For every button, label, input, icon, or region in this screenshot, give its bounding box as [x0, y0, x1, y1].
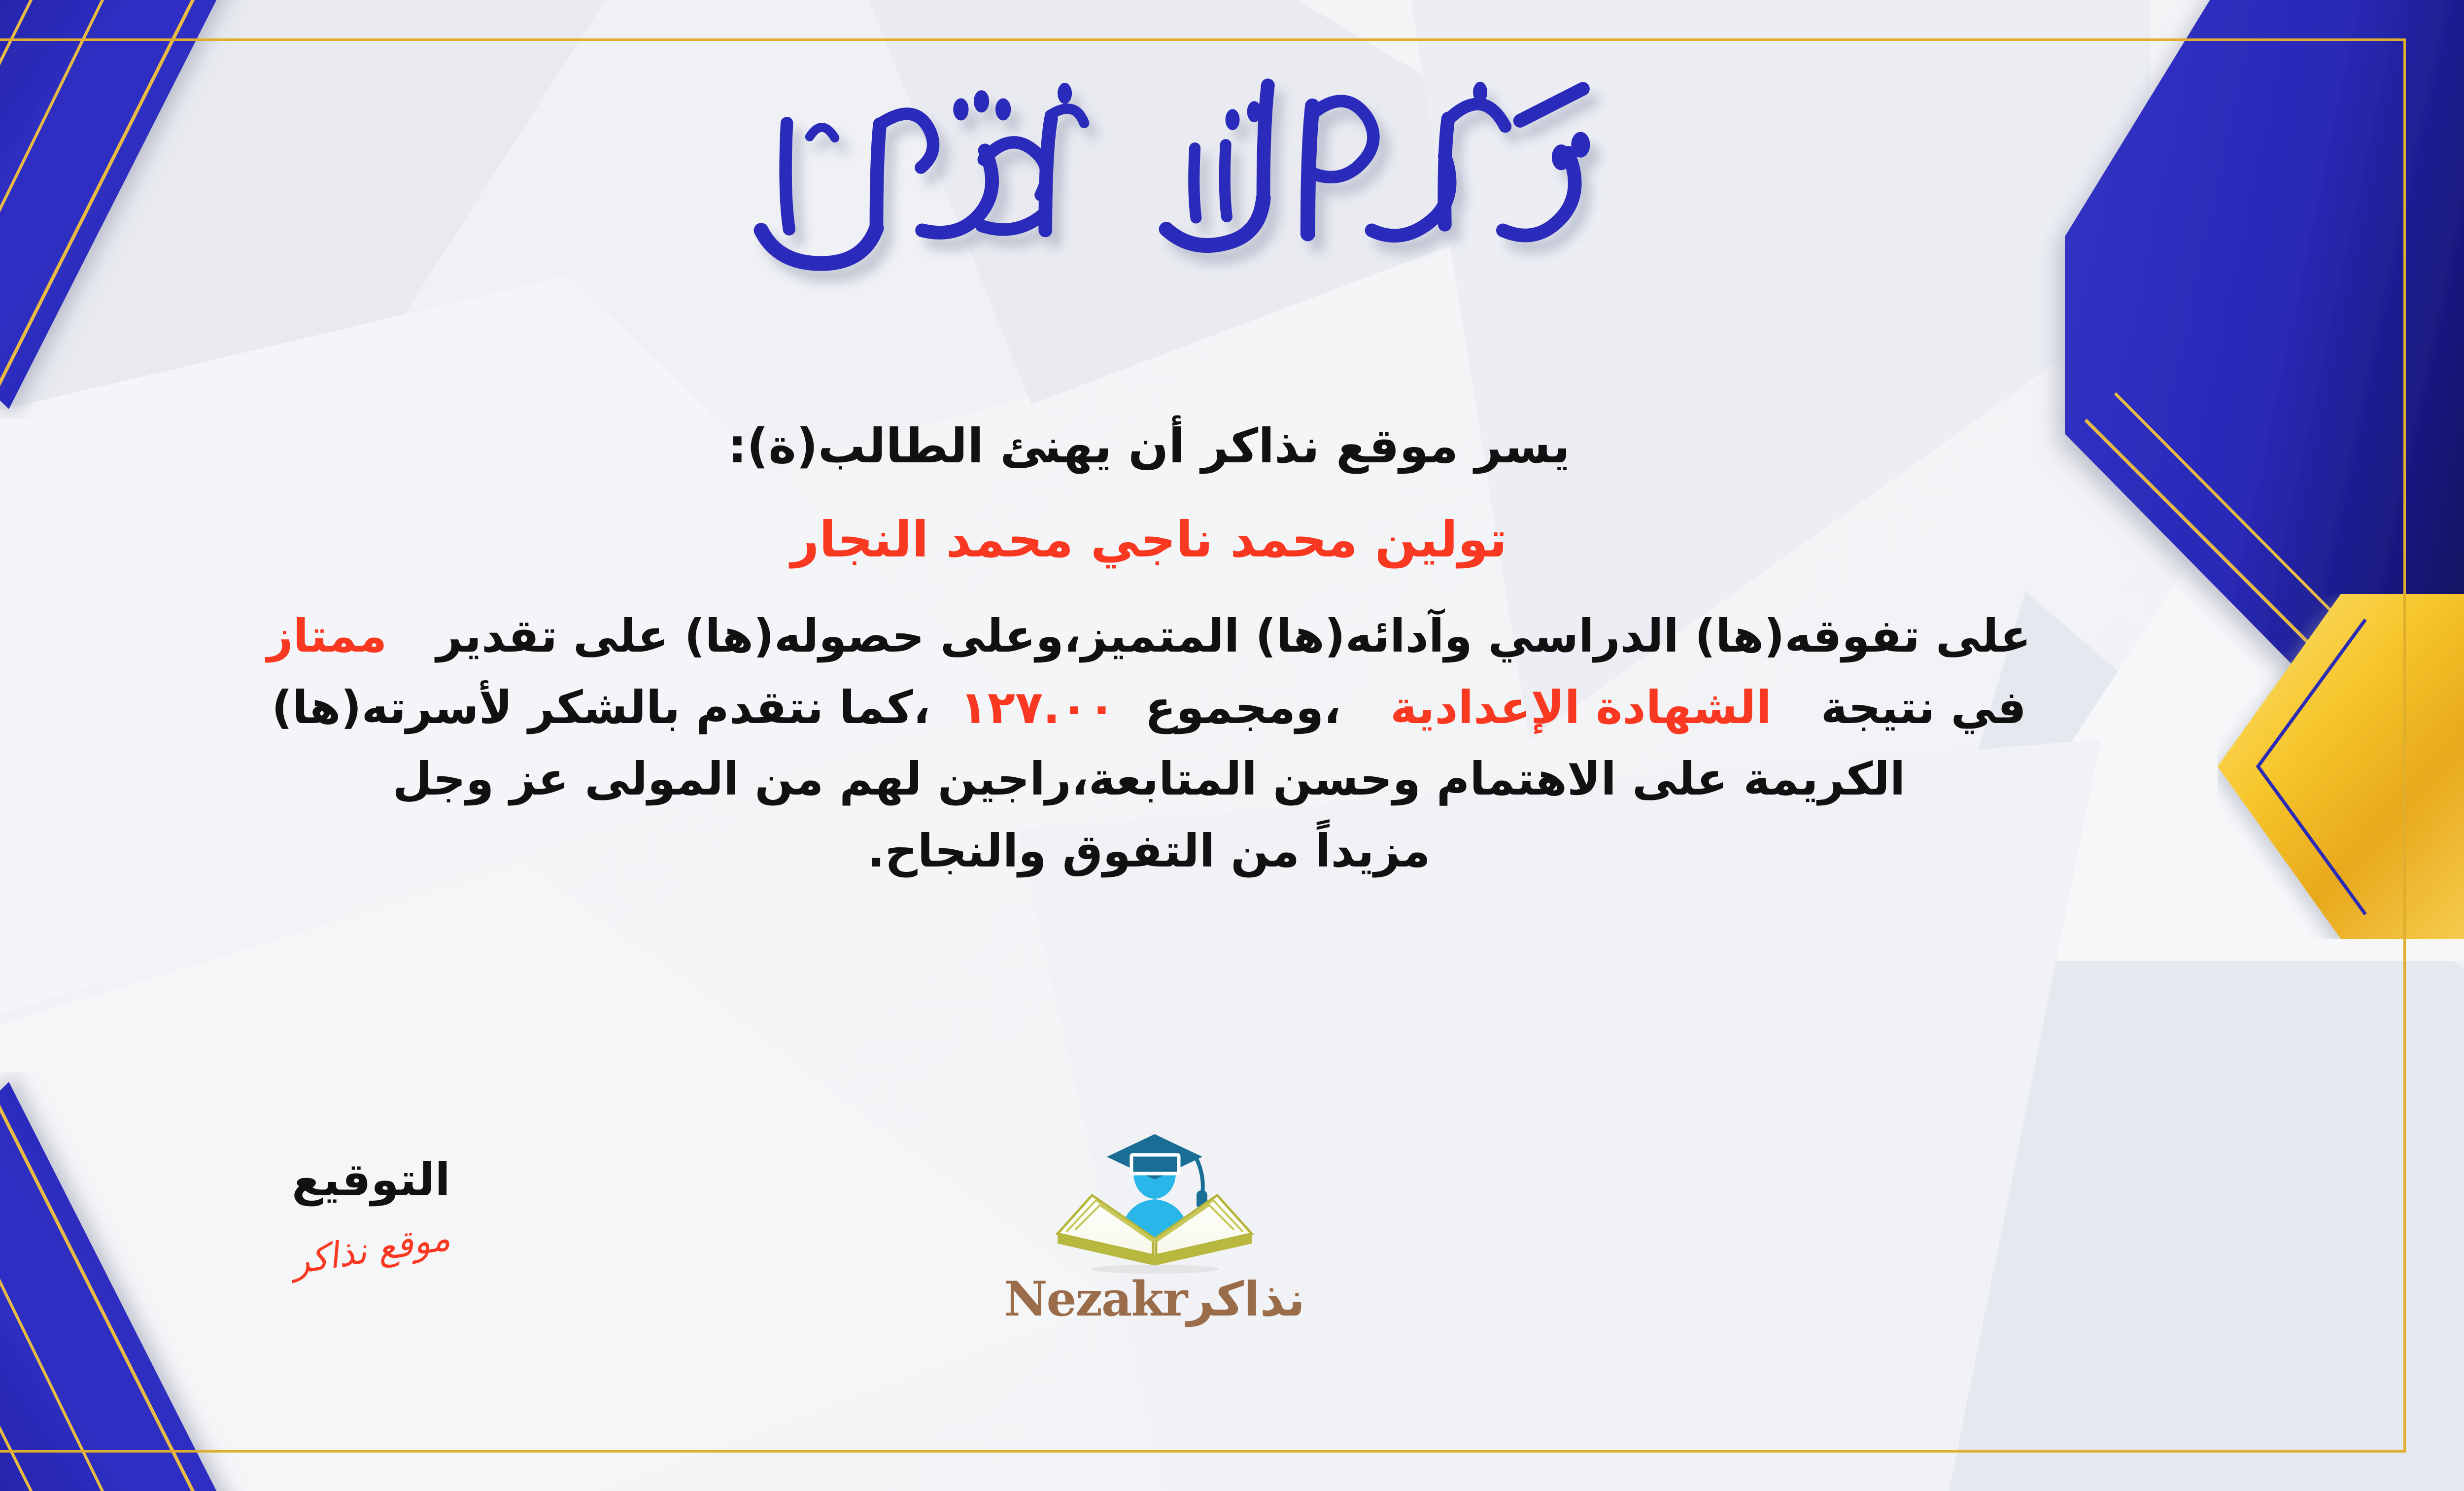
- certificate-title: [0, 59, 2464, 278]
- intro-line: يسر موقع نذاكر أن يهنئ الطالب(ة):: [0, 409, 2390, 484]
- bottom-left-blue-chevron-decoration: [0, 1072, 401, 1491]
- student-name: تولين محمد ناجي محمد النجار: [0, 501, 2390, 579]
- total-score-value: ١٢٧.٠٠: [960, 672, 1116, 743]
- achievement-line: على تفوقه(ها) الدراسي وآدائه(ها) المتميز…: [0, 600, 2390, 672]
- certificate-page: يسر موقع نذاكر أن يهنئ الطالب(ة): تولين …: [0, 0, 2464, 1491]
- stage-and-score-line: في نتيجة الشهادة الإعدادية ،ومجموع ١٢٧.٠…: [0, 672, 2390, 743]
- total-prefix-text: ،ومجموع: [1145, 672, 1341, 743]
- brand-logo: نذاكرNezakr: [982, 1126, 1327, 1327]
- certificate-stage-value: الشهادة الإعدادية: [1390, 672, 1772, 743]
- signature-block: التوقيع موقع نذاكر: [218, 1153, 524, 1270]
- brand-name: نذاكرNezakr: [982, 1271, 1327, 1327]
- graduate-open-book-icon: [1049, 1126, 1261, 1274]
- stage-prefix-text: في نتيجة: [1821, 672, 2026, 743]
- signature-label: التوقيع: [218, 1153, 524, 1206]
- closing-line: مزيداً من التفوق والنجاح.: [0, 815, 2390, 887]
- achievement-text: على تفوقه(ها) الدراسي وآدائه(ها) المتميز…: [436, 600, 2031, 672]
- brand-name-arabic: نذاكر: [1187, 1272, 1305, 1327]
- family-thanks-line: الكريمة على الاهتمام وحسن المتابعة،راجين…: [0, 743, 2390, 815]
- thanks-text: ،كما نتقدم بالشكر لأسرته(ها): [272, 672, 930, 743]
- brand-name-latin: Nezakr: [1004, 1271, 1187, 1327]
- grade-value: ممتاز: [267, 600, 387, 672]
- certificate-body: يسر موقع نذاكر أن يهنئ الطالب(ة): تولين …: [0, 409, 2390, 887]
